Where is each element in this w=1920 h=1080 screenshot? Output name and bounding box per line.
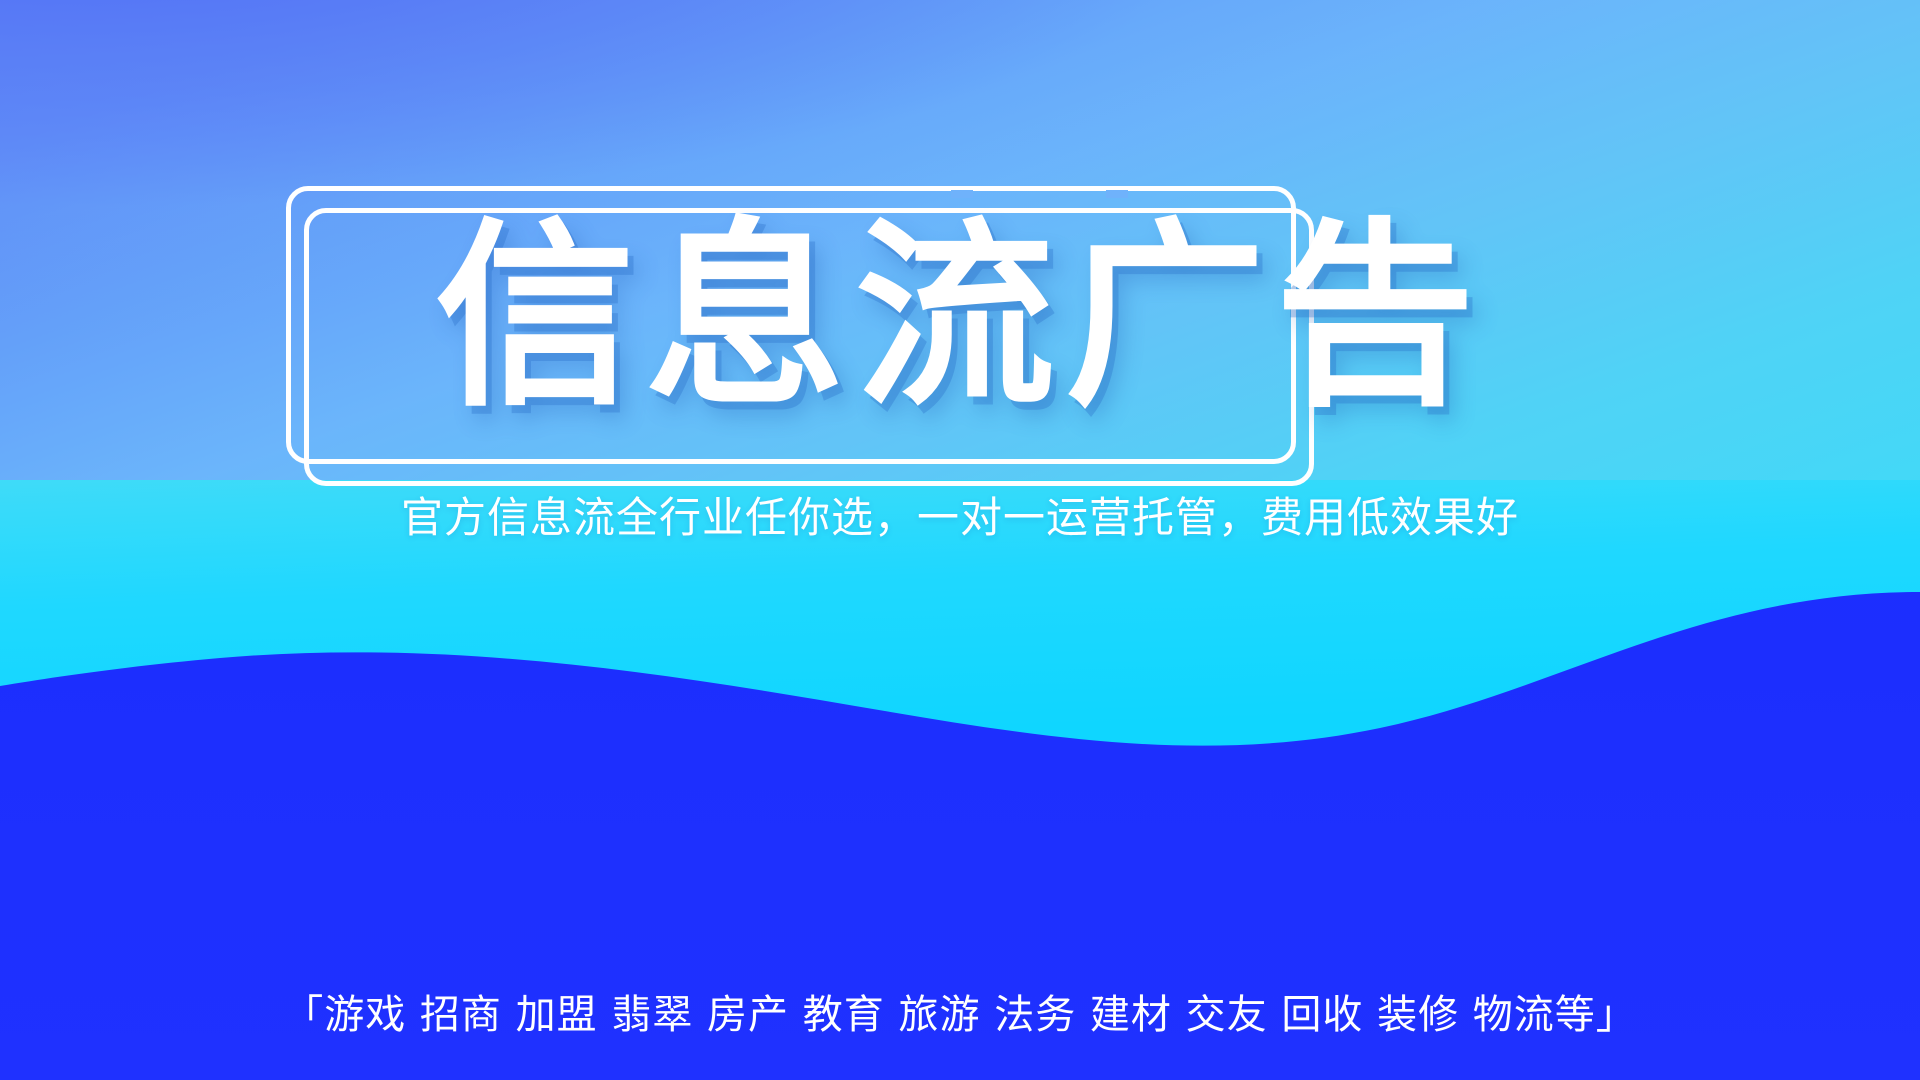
frame-dash-gap-left xyxy=(951,190,973,198)
frame-dash-gap-right xyxy=(1106,190,1128,198)
promo-banner: 信息流广告 官方信息流全行业任你选，一对一运营托管，费用低效果好 「游戏 招商 … xyxy=(0,0,1920,1080)
page-title: 信息流广告 xyxy=(0,218,1920,418)
subtitle: 官方信息流全行业任你选，一对一运营托管，费用低效果好 xyxy=(0,492,1920,544)
tag-list: 「游戏 招商 加盟 翡翠 房产 教育 旅游 法务 建材 交友 回收 装修 物流等… xyxy=(0,990,1920,1040)
